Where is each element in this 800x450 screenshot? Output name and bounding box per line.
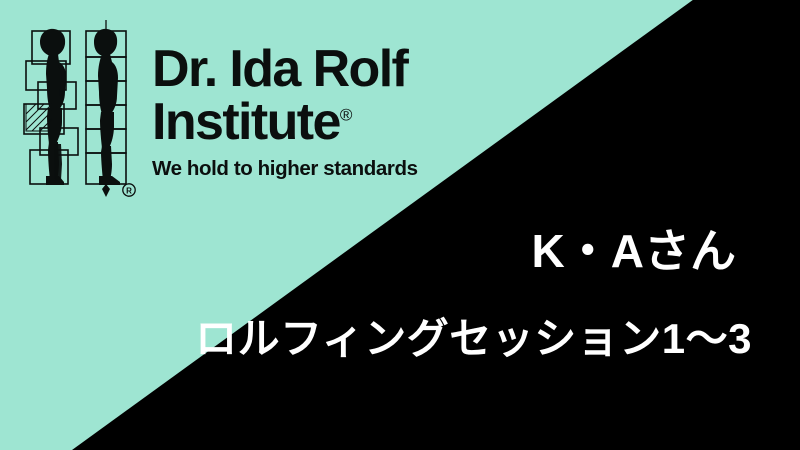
logo-tagline: We hold to higher standards — [152, 157, 418, 181]
svg-text:R: R — [126, 187, 132, 196]
client-name-label: K・Aさん — [532, 228, 736, 274]
session-label: ロルフィングセッション1〜3 — [195, 318, 752, 360]
registered-trademark-icon: ® — [340, 106, 353, 125]
wordmark-line-institute: Institute® — [152, 97, 418, 148]
dr-ida-rolf-institute-logo: R Dr. Ida Rolf Institute® We hold to hig… — [18, 18, 418, 200]
logo-wordmark: Dr. Ida Rolf Institute® We hold to highe… — [152, 44, 418, 181]
rolf-institute-figures-icon: R — [18, 18, 142, 200]
wordmark-institute-text: Institute — [152, 93, 340, 151]
wordmark-line-dr-ida-rolf: Dr. Ida Rolf — [152, 44, 418, 95]
title-card: R Dr. Ida Rolf Institute® We hold to hig… — [0, 0, 800, 450]
